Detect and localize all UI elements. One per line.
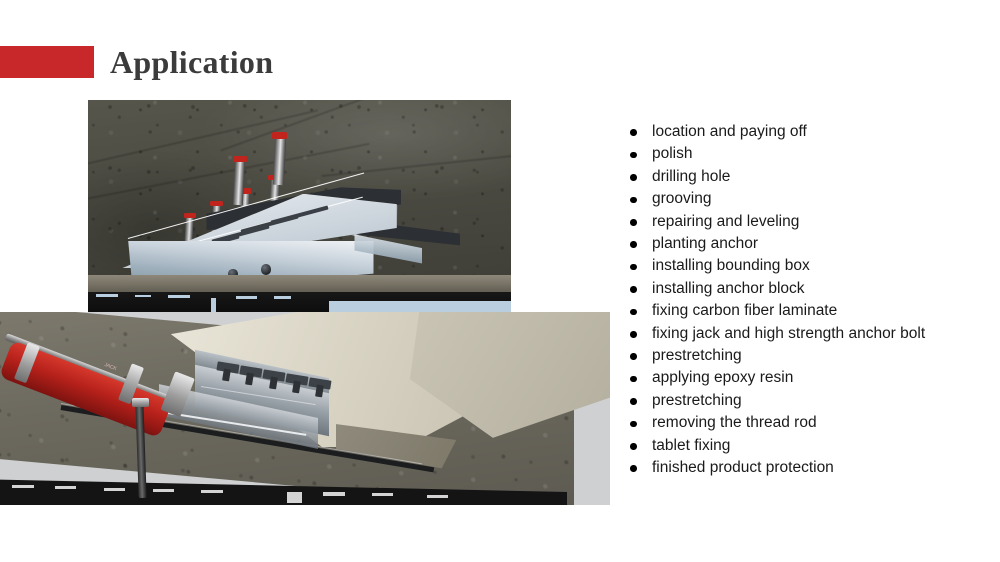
list-item-label: finished product protection (652, 459, 834, 476)
bullet-dot-icon (630, 353, 637, 360)
list-item[interactable]: polish (628, 143, 988, 165)
list-item-label: fixing carbon fiber laminate (652, 302, 837, 319)
list-item-label: prestretching (652, 347, 742, 364)
bullet-dot-icon (630, 331, 637, 338)
jack-prestressing-image: JACK (0, 312, 610, 505)
list-item[interactable]: location and paying off (628, 121, 988, 143)
anchor-plate-ceiling-image: CARBON (88, 100, 511, 313)
bullet-dot-icon (630, 241, 637, 248)
sky-gap (135, 295, 152, 298)
bullet-dot-icon (630, 174, 637, 181)
deck-light-gap (55, 486, 76, 489)
bullet-dot-icon (630, 264, 637, 271)
list-item[interactable]: removing the thread rod (628, 412, 988, 434)
bullet-dot-icon (630, 465, 637, 472)
threaded-rod-cap (210, 201, 222, 206)
list-item-label: applying epoxy resin (652, 369, 793, 386)
list-item-label: prestretching (652, 392, 742, 409)
list-item[interactable]: installing bounding box (628, 255, 988, 277)
list-item-label: planting anchor (652, 235, 758, 252)
sky-gap (96, 294, 117, 297)
list-item[interactable]: repairing and leveling (628, 211, 988, 233)
bullet-dot-icon (630, 286, 637, 293)
bullet-dot-icon (630, 376, 637, 383)
bracket-bolt-hole (261, 264, 271, 274)
deck-light-gap (287, 492, 302, 504)
threaded-rod-cap (233, 156, 247, 162)
list-item[interactable]: tablet fixing (628, 435, 988, 457)
hose-coupling (132, 398, 149, 407)
application-steps-list: location and paying off polish drilling … (628, 121, 988, 480)
list-item-label: polish (652, 145, 693, 162)
deck-light-gap (12, 485, 33, 488)
bullet-dot-icon (630, 219, 637, 226)
list-item[interactable]: grooving (628, 188, 988, 210)
deck-light-gap (323, 492, 344, 495)
bullet-dot-icon (630, 421, 637, 428)
list-item[interactable]: installing anchor block (628, 278, 988, 300)
bullet-dot-icon (630, 443, 637, 450)
list-item-label: removing the thread rod (652, 414, 817, 431)
list-item[interactable]: planting anchor (628, 233, 988, 255)
page-title: Application (110, 41, 273, 83)
threaded-rod-cap (272, 132, 287, 138)
deck-light-gap (427, 495, 448, 498)
bullet-dot-icon (630, 398, 637, 405)
title-accent-bar (0, 46, 94, 78)
list-item[interactable]: finished product protection (628, 457, 988, 479)
deck-light-gap (153, 489, 174, 492)
deck-light-gap (201, 490, 222, 493)
list-item-label: drilling hole (652, 168, 730, 185)
list-item[interactable]: fixing jack and high strength anchor bol… (628, 323, 988, 345)
list-item-label: fixing jack and high strength anchor bol… (652, 325, 925, 342)
sky-gap (168, 295, 189, 298)
list-item-label: location and paying off (652, 123, 807, 140)
list-item-label: grooving (652, 190, 711, 207)
list-item[interactable]: prestretching (628, 345, 988, 367)
sky-gap (274, 296, 291, 299)
list-item-label: tablet fixing (652, 437, 730, 454)
list-item-label: installing anchor block (652, 280, 805, 297)
bullet-dot-icon (630, 152, 637, 159)
list-item[interactable]: applying epoxy resin (628, 367, 988, 389)
list-item[interactable]: fixing carbon fiber laminate (628, 300, 988, 322)
bullet-dot-icon (630, 129, 637, 136)
sky-gap (211, 298, 216, 313)
list-item[interactable]: drilling hole (628, 166, 988, 188)
list-item-label: installing bounding box (652, 257, 810, 274)
deck-light-gap (104, 488, 125, 491)
bullet-dot-icon (630, 197, 637, 204)
list-item-label: repairing and leveling (652, 213, 799, 230)
sky-gap (236, 296, 257, 299)
deck-light-gap (372, 493, 393, 496)
list-item[interactable]: prestretching (628, 390, 988, 412)
threaded-rod-cap (184, 213, 196, 218)
bullet-dot-icon (630, 309, 637, 316)
